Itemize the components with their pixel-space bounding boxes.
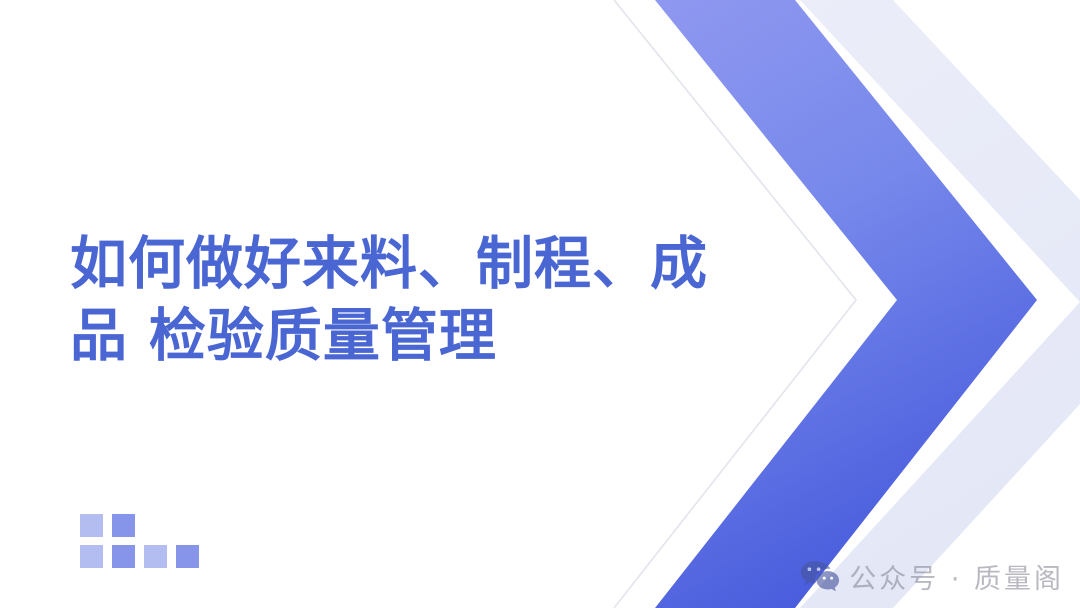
dot-grid-row — [80, 545, 199, 568]
dot-square — [80, 545, 103, 568]
slide-title: 如何做好来料、制程、成 品 检验质量管理 — [70, 228, 760, 372]
title-line-2: 品 检验质量管理 — [70, 300, 760, 372]
watermark-text: 公众号 · 质量阁 — [849, 557, 1064, 596]
dot-grid-row — [80, 514, 199, 537]
square-dot-grid — [80, 514, 199, 576]
dot-square — [80, 514, 103, 537]
dot-square — [144, 545, 167, 568]
title-line-1: 如何做好来料、制程、成 — [70, 228, 760, 300]
wechat-icon — [800, 560, 840, 594]
watermark: 公众号 · 质量阁 — [800, 557, 1064, 596]
dot-square — [176, 545, 199, 568]
dot-square — [112, 514, 135, 537]
slide-canvas: 如何做好来料、制程、成 品 检验质量管理 公众号 · 质量阁 — [0, 0, 1080, 608]
dot-square — [112, 545, 135, 568]
